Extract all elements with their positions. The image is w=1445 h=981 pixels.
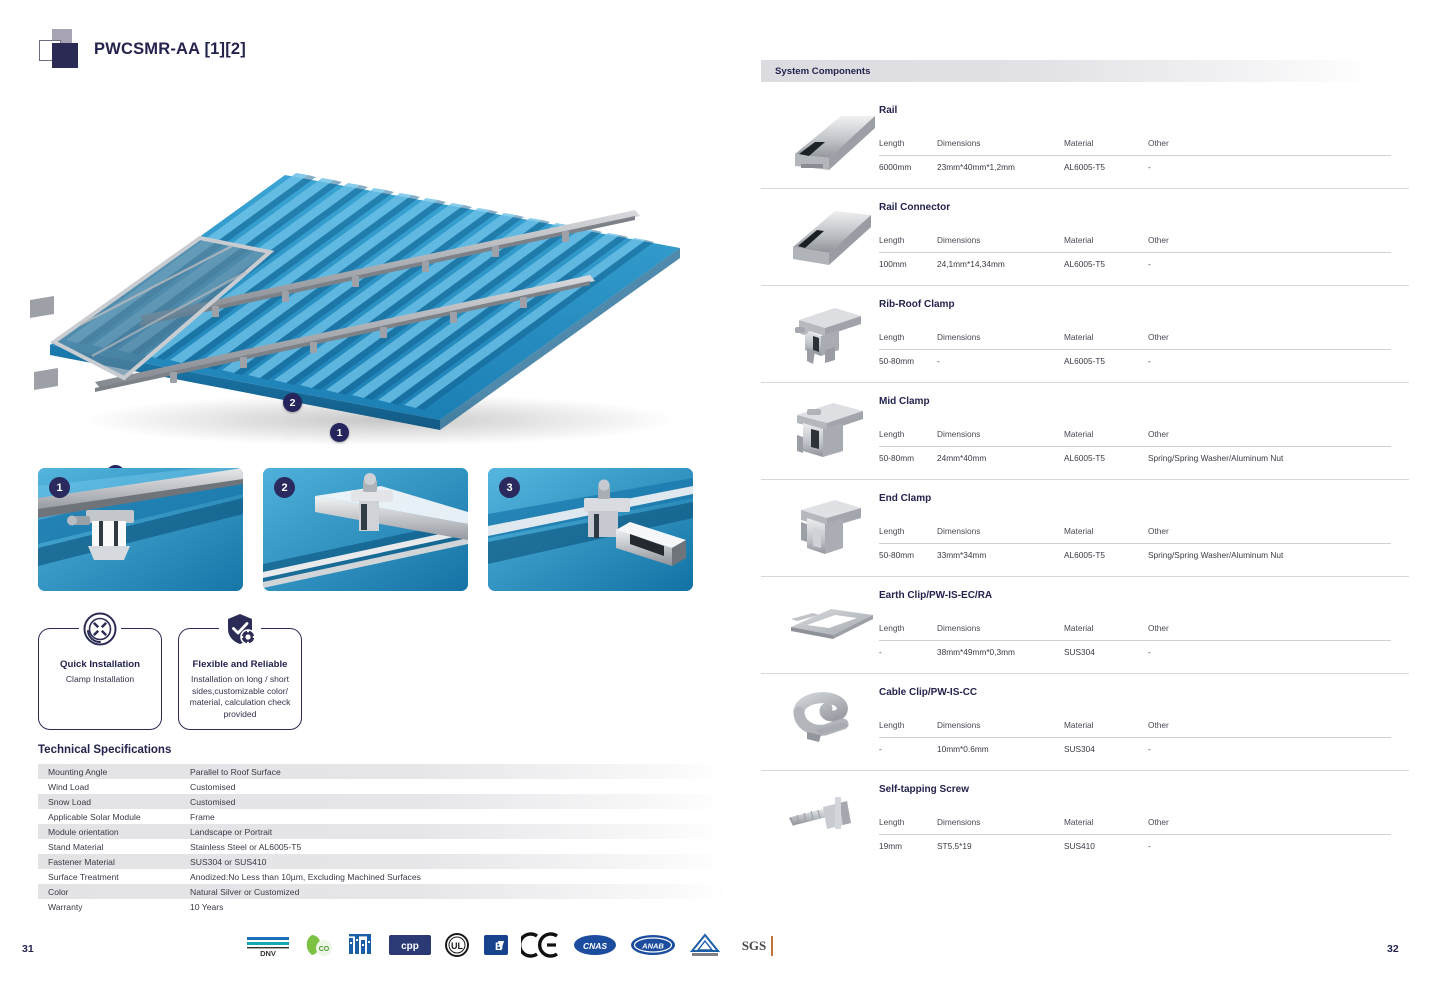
column-header-material: Material (1064, 720, 1148, 738)
cell-dimensions: 38mm*49mm*0,3mm (937, 641, 1064, 658)
spec-row: Module orientation Landscape or Portrait (38, 824, 728, 839)
column-header-material: Material (1064, 429, 1148, 447)
column-header-other: Other (1148, 817, 1391, 835)
photo-badge-2: 2 (274, 477, 295, 498)
column-header-dimensions: Dimensions (937, 332, 1064, 350)
component-spec-table: Length Dimensions Material Other - 10mm*… (879, 720, 1391, 754)
page-number-right: 32 (1387, 943, 1399, 955)
column-header-dimensions: Dimensions (937, 623, 1064, 641)
cell-dimensions: 10mm*0.6mm (937, 738, 1064, 755)
cell-material: AL6005-T5 (1064, 156, 1148, 173)
hero-callout-2: 2 (283, 393, 302, 412)
detail-photo-3: 3 (488, 468, 693, 591)
spec-label: Module orientation (38, 824, 190, 839)
component-name: End Clamp (879, 493, 931, 504)
component-spec-table: Length Dimensions Material Other 100mm 2… (879, 235, 1391, 269)
bv-logo-icon: B (482, 932, 510, 958)
cell-length: - (879, 738, 937, 755)
column-header-material: Material (1064, 623, 1148, 641)
cell-dimensions: 23mm*40mm*1,2mm (937, 156, 1064, 173)
column-header-material: Material (1064, 817, 1148, 835)
svg-text:CO: CO (319, 946, 330, 953)
cable-clip-thumbnail-icon (777, 682, 889, 762)
cell-length: 50-80mm (879, 350, 937, 367)
column-header-length: Length (879, 623, 937, 641)
column-header-length: Length (879, 526, 937, 544)
column-header-length: Length (879, 138, 937, 156)
column-header-dimensions: Dimensions (937, 138, 1064, 156)
hero-callout-1: 1 (330, 423, 349, 442)
cell-dimensions: 24,1mm*14,34mm (937, 253, 1064, 270)
photo-badge-1: 1 (49, 477, 70, 498)
shield-check-gear-icon (219, 608, 261, 650)
spec-label: Mounting Angle (38, 764, 190, 779)
column-header-length: Length (879, 332, 937, 350)
spec-label: Surface Treatment (38, 869, 190, 884)
cell-other: - (1148, 350, 1391, 367)
cpp-logo-icon: cpp (388, 932, 432, 958)
spec-row: Snow Load Customised (38, 794, 728, 809)
cnas-logo-icon: CNAS (572, 932, 618, 958)
column-header-dimensions: Dimensions (937, 817, 1064, 835)
detail-photo-2: 2 (263, 468, 468, 591)
component-rail: Rail Length Dimensions Material Other 60… (761, 92, 1409, 189)
dnv-logo-icon: DNV (245, 932, 291, 958)
rib-roof-clamp-thumbnail-icon (777, 294, 889, 374)
earth-clip-thumbnail-icon (777, 585, 889, 665)
cell-dimensions: ST5.5*19 (937, 835, 1064, 852)
certification-logo-row: DNV CO (245, 930, 777, 960)
detail-photo-1: 1 (38, 468, 243, 591)
svg-text:UL: UL (451, 941, 463, 951)
mid-clamp-thumbnail-icon (777, 391, 889, 471)
component-rib-roof-clamp: Rib-Roof Clamp Length Dimensions Materia… (761, 286, 1409, 383)
column-header-material: Material (1064, 138, 1148, 156)
spec-label: Fastener Material (38, 854, 190, 869)
component-name: Rib-Roof Clamp (879, 299, 955, 310)
spec-row: Wind Load Customised (38, 779, 728, 794)
column-header-length: Length (879, 429, 937, 447)
system-components-heading: System Components (761, 60, 1373, 82)
tools-circle-icon (79, 608, 121, 650)
component-cable-clip: Cable Clip/PW-IS-CC Length Dimensions Ma… (761, 674, 1409, 771)
feature-flexible-reliable: Flexible and Reliable Installation on lo… (178, 628, 302, 730)
spec-value: Customised (190, 779, 728, 794)
column-header-material: Material (1064, 526, 1148, 544)
cell-other: Spring/Spring Washer/Aluminum Nut (1148, 447, 1391, 464)
component-spec-table: Length Dimensions Material Other 6000mm … (879, 138, 1391, 172)
spec-value: SUS304 or SUS410 (190, 854, 728, 869)
spec-value: Frame (190, 809, 728, 824)
cell-other: - (1148, 738, 1391, 755)
rail-connector-thumbnail-icon (777, 197, 889, 277)
column-header-other: Other (1148, 332, 1391, 350)
column-header-dimensions: Dimensions (937, 526, 1064, 544)
spec-value: 10 Years (190, 899, 728, 914)
cell-material: SUS304 (1064, 738, 1148, 755)
column-header-other: Other (1148, 720, 1391, 738)
cell-dimensions: 24mm*40mm (937, 447, 1064, 464)
spec-value: Landscape or Portrait (190, 824, 728, 839)
cell-material: AL6005-T5 (1064, 447, 1148, 464)
cell-other: - (1148, 253, 1391, 270)
cell-length: 50-80mm (879, 447, 937, 464)
column-header-length: Length (879, 817, 937, 835)
spec-value: Stainless Steel or AL6005-T5 (190, 839, 728, 854)
component-name: Rail Connector (879, 202, 950, 213)
spec-row: Warranty 10 Years (38, 899, 728, 914)
feature-badge-row: Quick Installation Clamp Installation (38, 628, 302, 730)
hero-illustration: 1 2 3 (20, 120, 720, 460)
component-name: Earth Clip/PW-IS-EC/RA (879, 590, 992, 601)
technical-specifications-heading: Technical Specifications (38, 744, 171, 756)
cell-length: 6000mm (879, 156, 937, 173)
cell-material: SUS410 (1064, 835, 1148, 852)
system-components-list: Rail Length Dimensions Material Other 60… (761, 92, 1409, 868)
tuv-logo-icon (688, 932, 722, 958)
component-end-clamp: End Clamp Length Dimensions Material Oth… (761, 480, 1409, 577)
component-spec-table: Length Dimensions Material Other 50-80mm… (879, 526, 1391, 560)
spec-label: Wind Load (38, 779, 190, 794)
technical-specifications-table: Mounting Angle Parallel to Roof Surface … (38, 764, 728, 914)
column-header-length: Length (879, 720, 937, 738)
rail-thumbnail-icon (777, 100, 889, 180)
cell-length: 100mm (879, 253, 937, 270)
cell-length: - (879, 641, 937, 658)
cell-material: AL6005-T5 (1064, 253, 1148, 270)
spec-value: Anodized:No Less than 10µm, Excluding Ma… (190, 869, 728, 884)
column-header-dimensions: Dimensions (937, 235, 1064, 253)
feature-title: Quick Installation (47, 659, 153, 672)
spec-label: Color (38, 884, 190, 899)
column-header-dimensions: Dimensions (937, 720, 1064, 738)
product-logo-icon (36, 28, 80, 70)
self-tapping-screw-thumbnail-icon (777, 779, 889, 859)
cell-other: - (1148, 641, 1391, 658)
component-mid-clamp: Mid Clamp Length Dimensions Material Oth… (761, 383, 1409, 480)
column-header-other: Other (1148, 138, 1391, 156)
spec-label: Applicable Solar Module (38, 809, 190, 824)
component-name: Mid Clamp (879, 396, 930, 407)
column-header-other: Other (1148, 623, 1391, 641)
component-rail-connector: Rail Connector Length Dimensions Materia… (761, 189, 1409, 286)
column-header-length: Length (879, 235, 937, 253)
column-header-material: Material (1064, 235, 1148, 253)
column-header-material: Material (1064, 332, 1148, 350)
end-clamp-thumbnail-icon (777, 488, 889, 568)
ce-logo-icon (521, 932, 561, 958)
detail-photo-row: 1 (38, 468, 693, 591)
column-header-other: Other (1148, 429, 1391, 447)
svg-text:cpp: cpp (401, 941, 419, 952)
spec-value: Natural Silver or Customized (190, 884, 728, 899)
cell-other: - (1148, 835, 1391, 852)
cell-material: SUS304 (1064, 641, 1148, 658)
component-earth-clip: Earth Clip/PW-IS-EC/RA Length Dimensions… (761, 577, 1409, 674)
cell-other: - (1148, 156, 1391, 173)
column-header-other: Other (1148, 526, 1391, 544)
datasheet-page: PWCSMR-AA [1][2] (0, 0, 1445, 981)
photo-badge-3: 3 (499, 477, 520, 498)
gl-logo-icon (347, 932, 377, 958)
co2-logo-icon: CO (302, 932, 336, 958)
cell-other: Spring/Spring Washer/Aluminum Nut (1148, 544, 1391, 561)
component-spec-table: Length Dimensions Material Other 50-80mm… (879, 429, 1391, 463)
anab-logo-icon: ANAB (629, 932, 677, 958)
spec-row: Applicable Solar Module Frame (38, 809, 728, 824)
cell-dimensions: 33mm*34mm (937, 544, 1064, 561)
svg-text:CNAS: CNAS (583, 941, 607, 951)
spec-value: Customised (190, 794, 728, 809)
spec-label: Snow Load (38, 794, 190, 809)
product-header: PWCSMR-AA [1][2] (36, 28, 246, 70)
column-header-other: Other (1148, 235, 1391, 253)
feature-description: Installation on long / short sides,custo… (187, 674, 293, 720)
spec-row: Mounting Angle Parallel to Roof Surface (38, 764, 728, 779)
ul-logo-icon: UL (443, 932, 471, 958)
feature-description: Clamp Installation (47, 674, 153, 686)
svg-text:ANAB: ANAB (641, 942, 664, 951)
cell-length: 19mm (879, 835, 937, 852)
feature-quick-installation: Quick Installation Clamp Installation (38, 628, 162, 730)
component-spec-table: Length Dimensions Material Other - 38mm*… (879, 623, 1391, 657)
cell-length: 50-80mm (879, 544, 937, 561)
component-spec-table: Length Dimensions Material Other 19mm ST… (879, 817, 1391, 851)
spec-row: Fastener Material SUS304 or SUS410 (38, 854, 728, 869)
column-header-dimensions: Dimensions (937, 429, 1064, 447)
component-name: Self-tapping Screw (879, 784, 969, 795)
feature-title: Flexible and Reliable (187, 659, 293, 672)
component-self-tapping-screw: Self-tapping Screw Length Dimensions Mat… (761, 771, 1409, 868)
page-title: PWCSMR-AA [1][2] (94, 40, 246, 59)
sgs-logo-icon: SGS (733, 932, 777, 958)
spec-row: Stand Material Stainless Steel or AL6005… (38, 839, 728, 854)
component-name: Rail (879, 105, 897, 116)
cell-material: AL6005-T5 (1064, 350, 1148, 367)
component-name: Cable Clip/PW-IS-CC (879, 687, 977, 698)
svg-text:SGS: SGS (742, 938, 767, 953)
right-page: System Components Rail (745, 0, 1445, 981)
spec-row: Color Natural Silver or Customized (38, 884, 728, 899)
spec-value: Parallel to Roof Surface (190, 764, 728, 779)
left-page: PWCSMR-AA [1][2] (0, 0, 730, 981)
logo-square-navy (52, 43, 78, 68)
page-number-left: 31 (22, 943, 34, 955)
component-spec-table: Length Dimensions Material Other 50-80mm… (879, 332, 1391, 366)
svg-text:DNV: DNV (260, 949, 276, 958)
spec-label: Warranty (38, 899, 190, 914)
spec-row: Surface Treatment Anodized:No Less than … (38, 869, 728, 884)
cell-material: AL6005-T5 (1064, 544, 1148, 561)
cell-dimensions: - (937, 350, 1064, 367)
spec-label: Stand Material (38, 839, 190, 854)
